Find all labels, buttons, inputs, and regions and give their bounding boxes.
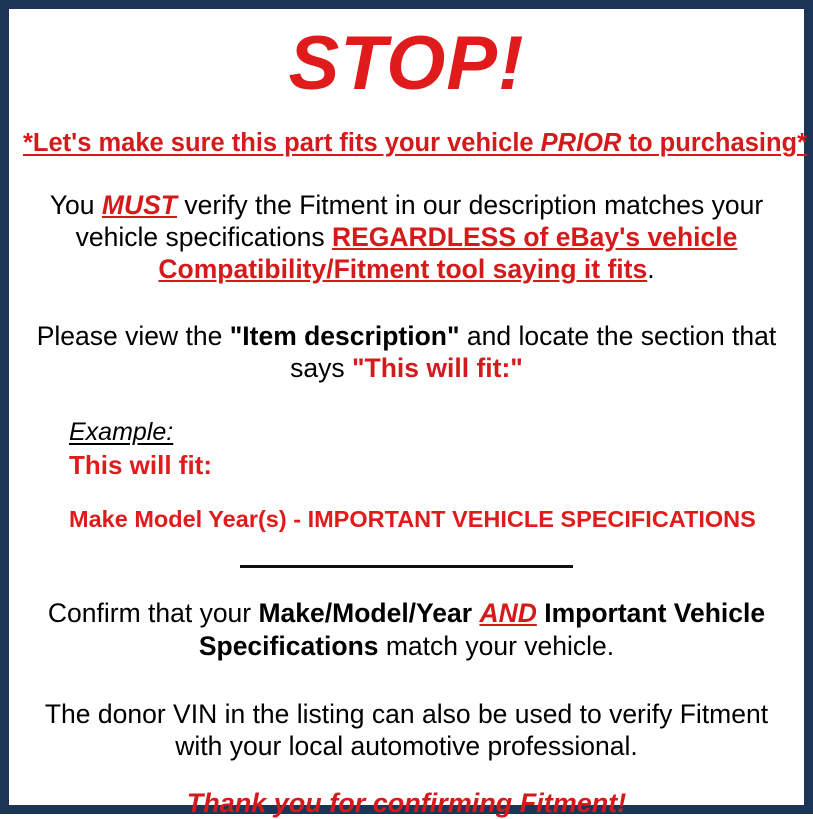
paragraph-view-description: Please view the "Item description" and l…: [23, 320, 790, 385]
section-divider-wrap: [23, 557, 790, 575]
confirm-seg4: match your vehicle.: [379, 631, 615, 661]
paragraph-donor-vin: The donor VIN in the listing can also be…: [23, 698, 790, 763]
emphasis-this-will-fit: "This will fit:": [352, 353, 523, 383]
paragraph-must-verify: You MUST verify the Fitment in our descr…: [23, 189, 790, 286]
subtitle-lead: *Let's make sure this part fits your veh…: [23, 129, 541, 157]
must-seg1: You: [50, 190, 102, 220]
must-seg3: .: [647, 254, 654, 284]
example-spec-line: Make Model Year(s) - IMPORTANT VEHICLE S…: [69, 505, 790, 533]
emphasis-must: MUST: [102, 190, 177, 220]
emphasis-item-description: "Item description": [230, 321, 460, 351]
view-seg1: Please view the: [37, 321, 230, 351]
example-label: Example:: [69, 418, 173, 447]
emphasis-make-model-year: Make/Model/Year: [258, 598, 472, 628]
example-label-row: Example:: [69, 418, 790, 447]
paragraph-confirm-match: Confirm that your Make/Model/Year AND Im…: [23, 597, 790, 662]
example-block: Example: This will fit: Make Model Year(…: [23, 418, 790, 533]
thank-you-message: Thank you for confirming Fitment!: [23, 787, 790, 819]
subtitle-emphasis-prior: PRIOR: [541, 129, 622, 157]
subtitle-banner: *Let's make sure this part fits your veh…: [23, 129, 790, 157]
page-title: STOP!: [23, 25, 790, 103]
notice-content: STOP! *Let's make sure this part fits yo…: [9, 9, 804, 805]
example-fit-heading: This will fit:: [69, 450, 790, 481]
subtitle-tail: to purchasing*: [621, 129, 807, 157]
confirm-seg1: Confirm that your: [48, 598, 259, 628]
emphasis-and: AND: [479, 598, 536, 628]
fitment-notice-card: STOP! *Let's make sure this part fits yo…: [0, 0, 813, 814]
section-divider: [240, 565, 573, 568]
